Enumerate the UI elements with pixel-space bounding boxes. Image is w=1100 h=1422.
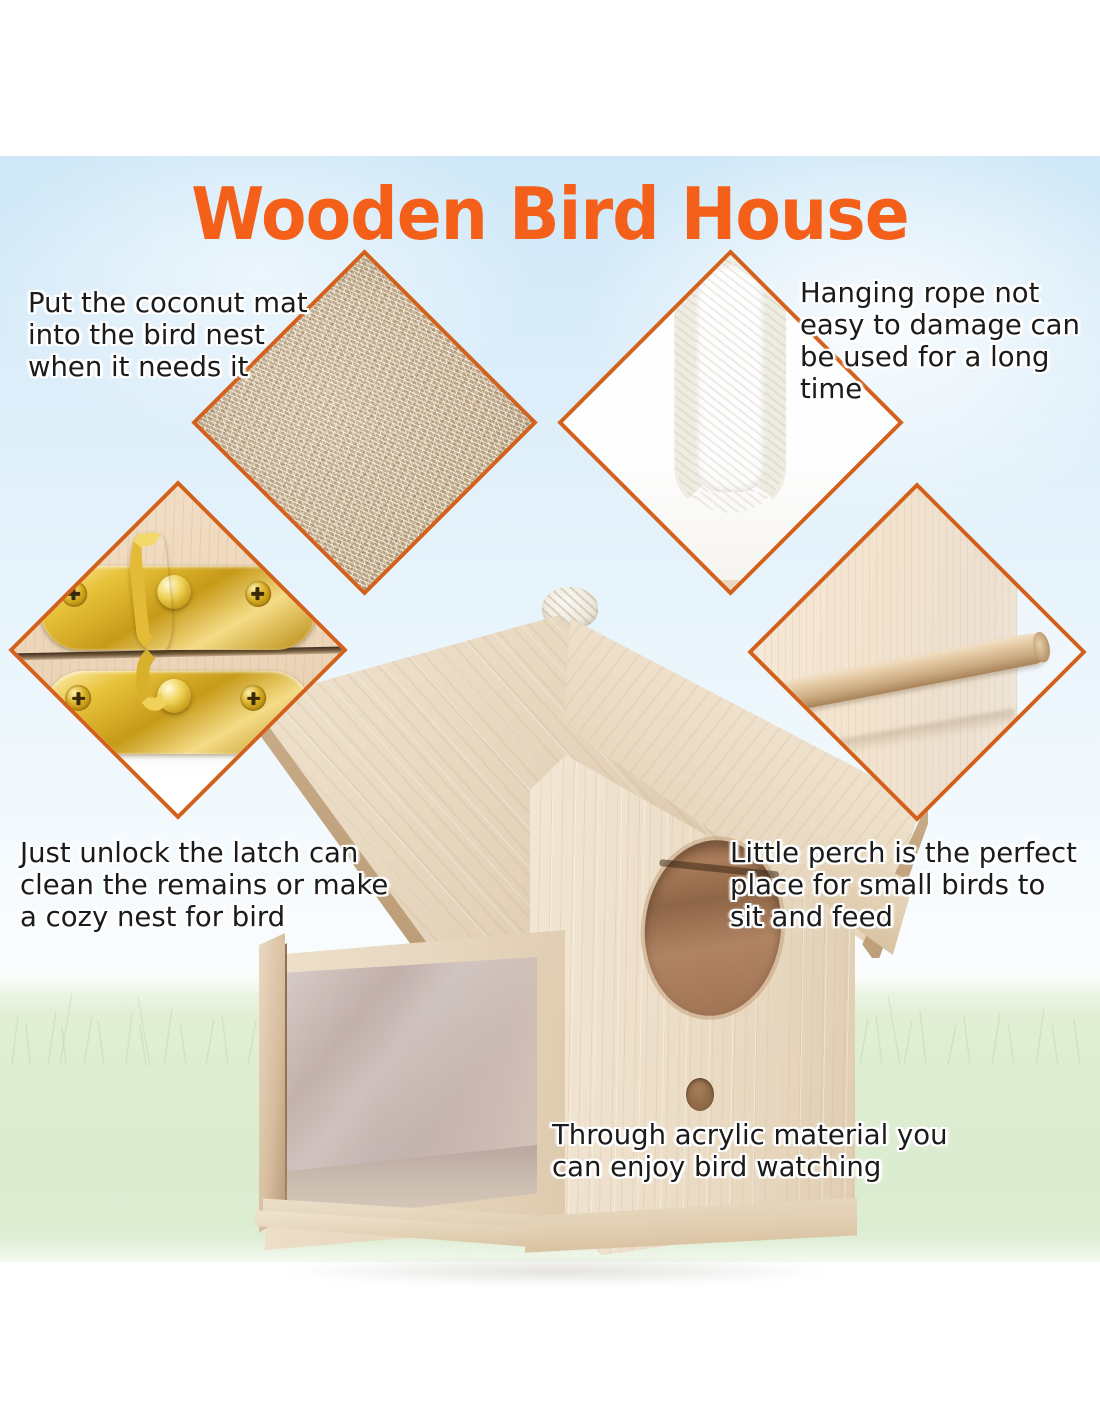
callout-latch: Just unlock the latch can clean the rema…	[20, 838, 420, 934]
callout-coconut-mat: Put the coconut mat into the bird nest w…	[28, 288, 388, 384]
callout-acrylic: Through acrylic material you can enjoy b…	[552, 1120, 1002, 1184]
perch-mounting-hole	[686, 1078, 714, 1111]
latch-screw-top-right	[245, 581, 271, 607]
rope-texture	[675, 249, 787, 513]
white-bottom-band	[0, 1262, 1100, 1422]
callout-perch: Little perch is the perfect place for sm…	[730, 838, 1100, 934]
ground-shadow	[285, 1257, 830, 1285]
side-left-post	[259, 933, 285, 1233]
page-title: Wooden Bird House	[44, 178, 1056, 251]
white-top-band	[0, 0, 1100, 156]
infographic-canvas: Wooden Bird House	[0, 0, 1100, 1422]
callout-hanging-rope: Hanging rope not easy to damage can be u…	[800, 278, 1100, 406]
